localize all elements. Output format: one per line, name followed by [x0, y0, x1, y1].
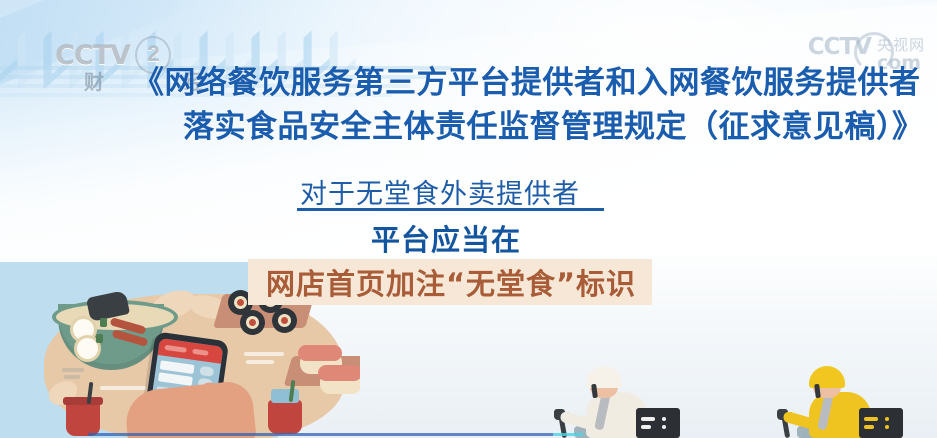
body-line-underline [297, 208, 604, 211]
drink-cup-icon [268, 400, 302, 434]
headline-line-1: 《网络餐饮服务第三方平台提供者和入网餐饮服务提供者 [133, 57, 921, 102]
food-delivery-illustration [0, 290, 360, 438]
body-line-condition: 对于无堂食外卖提供者 [300, 172, 580, 211]
maki-icon [240, 310, 265, 335]
delivery-rider-yellow [775, 366, 903, 438]
channel-name-char-1: 财 [84, 66, 104, 95]
delivery-box [859, 408, 903, 438]
coffee-cup-icon [66, 402, 100, 436]
broadcast-frame: CCTV 2 财 经 CCTV 央视网 com [0, 0, 937, 438]
body-line-requirement: 平台应当在 [371, 217, 521, 259]
app-header-bar [158, 338, 224, 364]
delivery-box [636, 408, 680, 438]
headline-line-2: 落实食品安全主体责任监督管理规定（征求意见稿）》 [183, 101, 924, 146]
nigiri-icon [320, 372, 360, 394]
delivery-rider-white [552, 366, 680, 438]
maki-icon [272, 308, 297, 333]
bottom-accent-rule [88, 433, 553, 436]
highlight-text: 网店首页加注“无堂食”标识 [256, 264, 646, 300]
bottom-accent-rule-cyan [553, 433, 583, 436]
